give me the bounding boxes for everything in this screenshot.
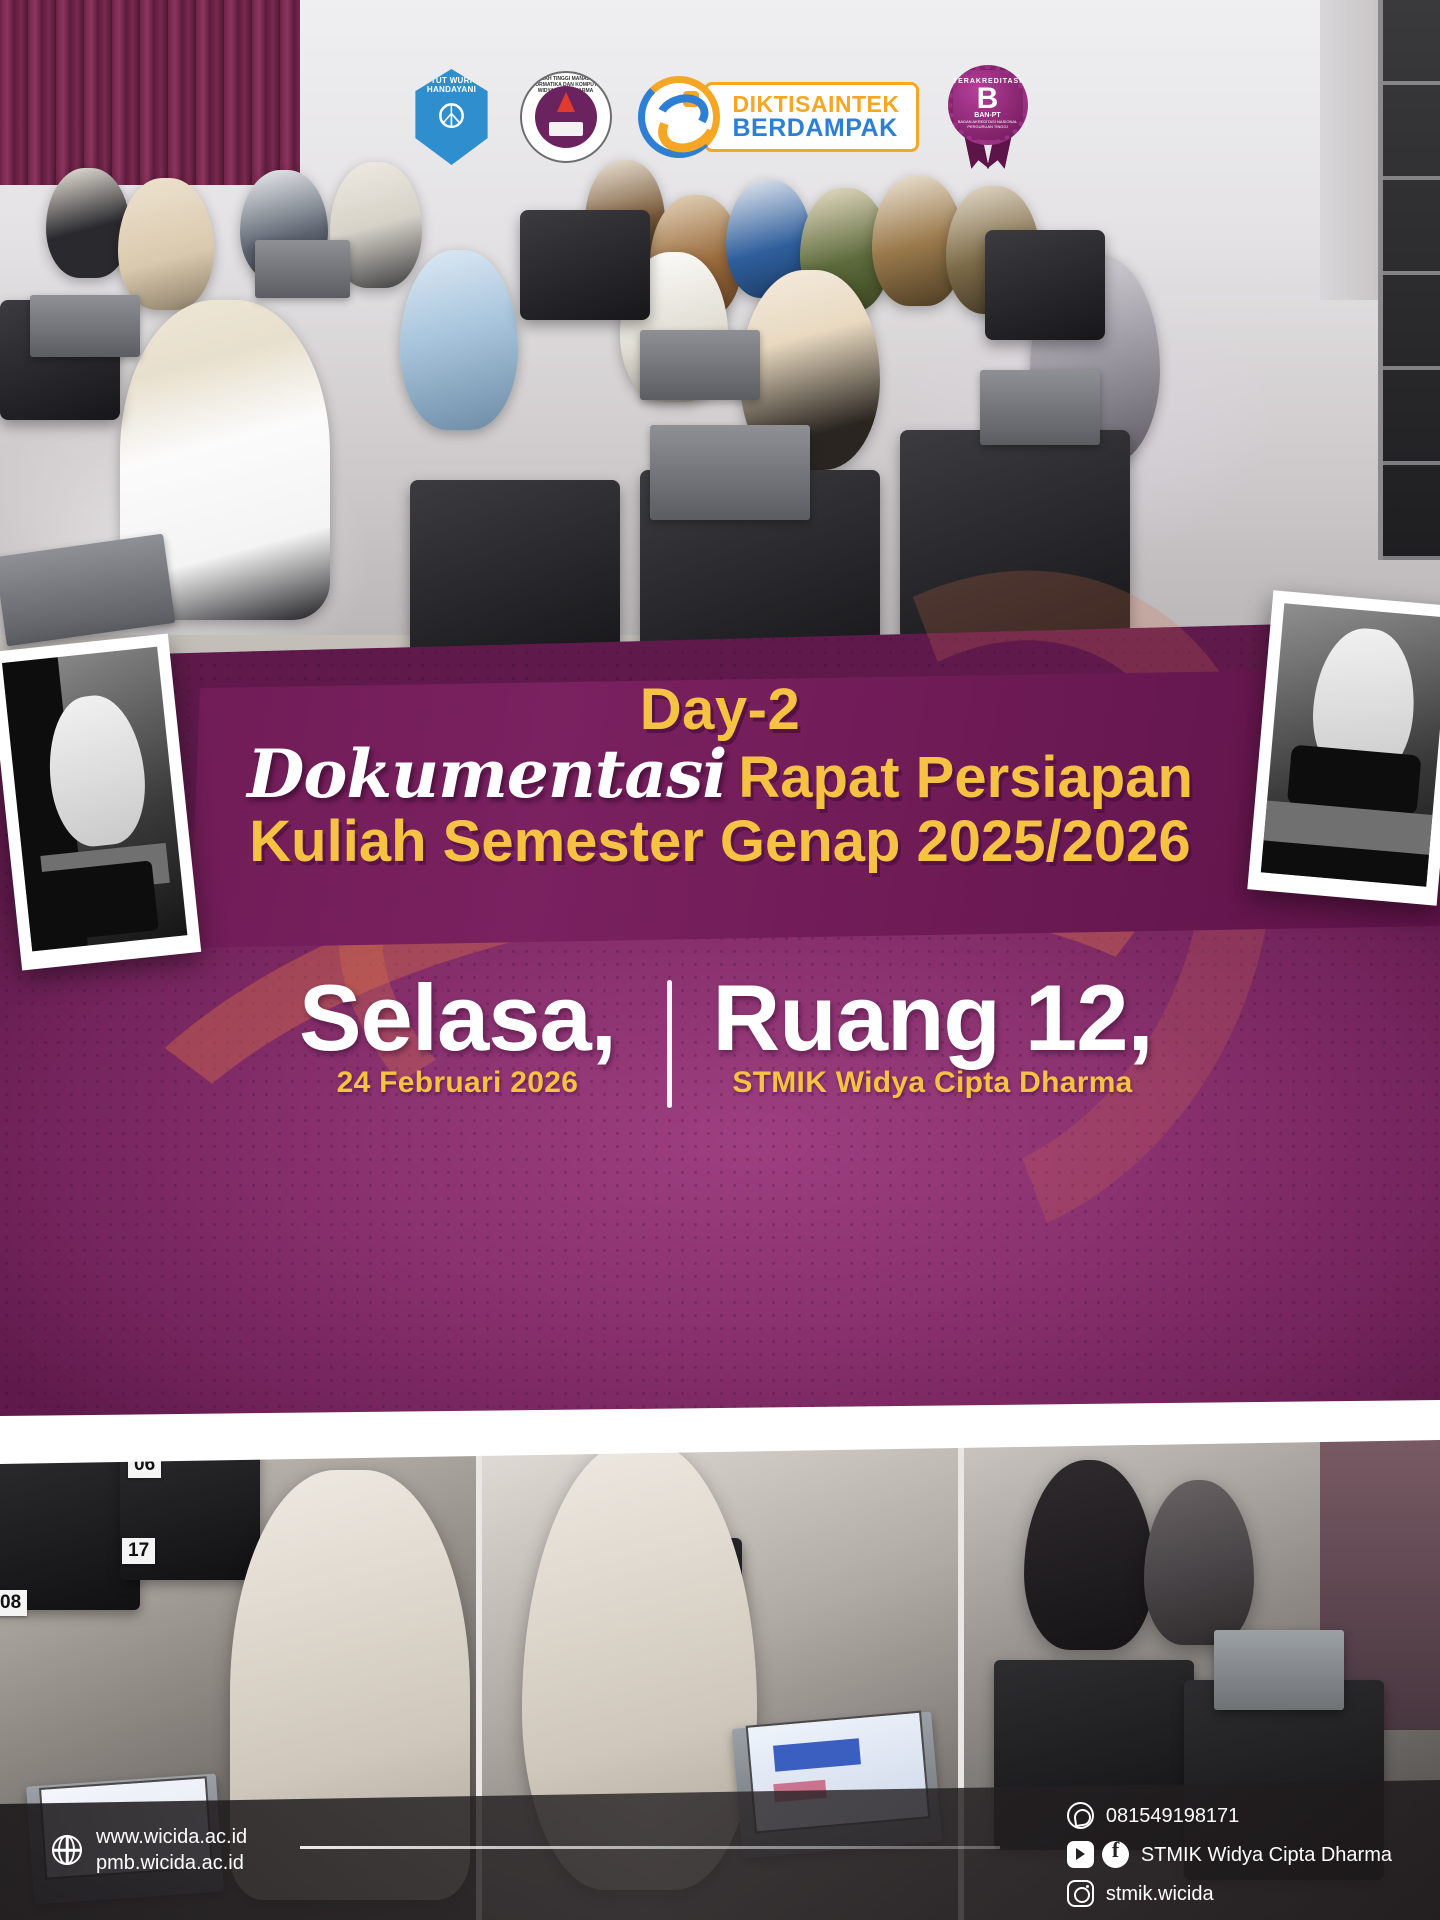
accreditation-badge: TERAKREDITASI B BAN-PT BADAN AKREDITASI … [945, 65, 1031, 169]
instagram-row: stmik.wicida [1067, 1880, 1392, 1907]
chair [985, 230, 1105, 340]
title-band: Day-2 Dokumentasi Rapat Persiapan Kuliah… [0, 620, 1440, 1460]
title-gold-word: Rapat Persiapan [738, 748, 1193, 807]
diktisaintek-label-line1: DIKTISAINTEK [733, 93, 900, 116]
stmik-wicida-seal-logo: SEKOLAH TINGGI MANAJEMEN INFORMATIKA DAN… [520, 71, 612, 163]
event-room: Ruang 12, [712, 972, 1152, 1064]
laptop [980, 370, 1100, 445]
accreditation-grade: B [977, 85, 999, 112]
title-text-block: Day-2 Dokumentasi Rapat Persiapan Kuliah… [0, 680, 1440, 873]
instagram-icon[interactable] [1067, 1880, 1094, 1907]
title-day: Day-2 [0, 680, 1440, 739]
footer-socials: 081549198171 STMIK Widya Cipta Dharma st… [1067, 1802, 1392, 1919]
event-details-row: Selasa, 24 Februari 2026 Ruang 12, STMIK… [0, 972, 1440, 1108]
tut-wuri-handayani-logo: TUT WURI HANDAYANI ☮ [410, 69, 494, 165]
laptop [255, 240, 350, 298]
attendee [46, 168, 130, 278]
title-line3: Kuliah Semester Genap 2025/2026 [0, 812, 1440, 872]
laptop [640, 330, 760, 400]
chair [520, 210, 650, 320]
accreditation-agency: BAN-PT [974, 112, 1000, 119]
youtube-icon[interactable] [1067, 1841, 1094, 1868]
attendee [400, 250, 518, 430]
whatsapp-row: 081549198171 [1067, 1802, 1392, 1829]
title-script-word: Dokumentasi [247, 741, 726, 808]
event-date: 24 Februari 2026 [287, 1066, 627, 1100]
details-divider [667, 980, 672, 1108]
event-venue-column: Ruang 12, STMIK Widya Cipta Dharma [672, 972, 1192, 1100]
youtube-facebook-row: STMIK Widya Cipta Dharma [1067, 1841, 1392, 1868]
footer-divider-rule [300, 1846, 1000, 1849]
laptop [30, 295, 140, 357]
polaroid-photo-left [0, 633, 201, 970]
chair-number-label: 08 [0, 1590, 27, 1616]
tut-wuri-arc-text: TUT WURI HANDAYANI [410, 76, 494, 94]
tut-wuri-glyph: ☮ [436, 100, 466, 134]
whatsapp-number[interactable]: 081549198171 [1106, 1806, 1239, 1826]
whatsapp-icon [1067, 1802, 1094, 1829]
website-pmb[interactable]: pmb.wicida.ac.id [96, 1850, 247, 1876]
instagram-handle[interactable]: stmik.wicida [1106, 1884, 1214, 1904]
accreditation-sub2: PERGURUAN TINGGI [967, 124, 1007, 129]
torch-flame-icon [557, 92, 575, 112]
event-institution: STMIK Widya Cipta Dharma [712, 1066, 1152, 1100]
diktisaintek-berdampak-logo: DIKTISAINTEK BERDAMPAK [638, 76, 919, 158]
footer-websites: www.wicida.ac.id pmb.wicida.ac.id [52, 1824, 247, 1877]
laptop [650, 425, 810, 520]
globe-icon [52, 1835, 82, 1865]
social-page-name[interactable]: STMIK Widya Cipta Dharma [1141, 1845, 1392, 1865]
website-main[interactable]: www.wicida.ac.id [96, 1824, 247, 1850]
diktisaintek-swirl-icon [653, 91, 705, 143]
attendee [118, 178, 214, 310]
diktisaintek-label-line2: BERDAMPAK [733, 116, 900, 142]
event-day-name: Selasa, [287, 972, 627, 1064]
facebook-icon[interactable] [1102, 1841, 1129, 1868]
chair-number-label: 17 [122, 1538, 155, 1564]
polaroid-photo-right [1247, 590, 1440, 905]
poster-root: TUT WURI HANDAYANI ☮ SEKOLAH TINGGI MANA… [0, 0, 1440, 1920]
poster-footer: www.wicida.ac.id pmb.wicida.ac.id 081549… [0, 1780, 1440, 1920]
event-date-column: Selasa, 24 Februari 2026 [247, 972, 667, 1100]
open-book-icon [549, 122, 583, 136]
header-logo-row: TUT WURI HANDAYANI ☮ SEKOLAH TINGGI MANA… [0, 62, 1440, 172]
